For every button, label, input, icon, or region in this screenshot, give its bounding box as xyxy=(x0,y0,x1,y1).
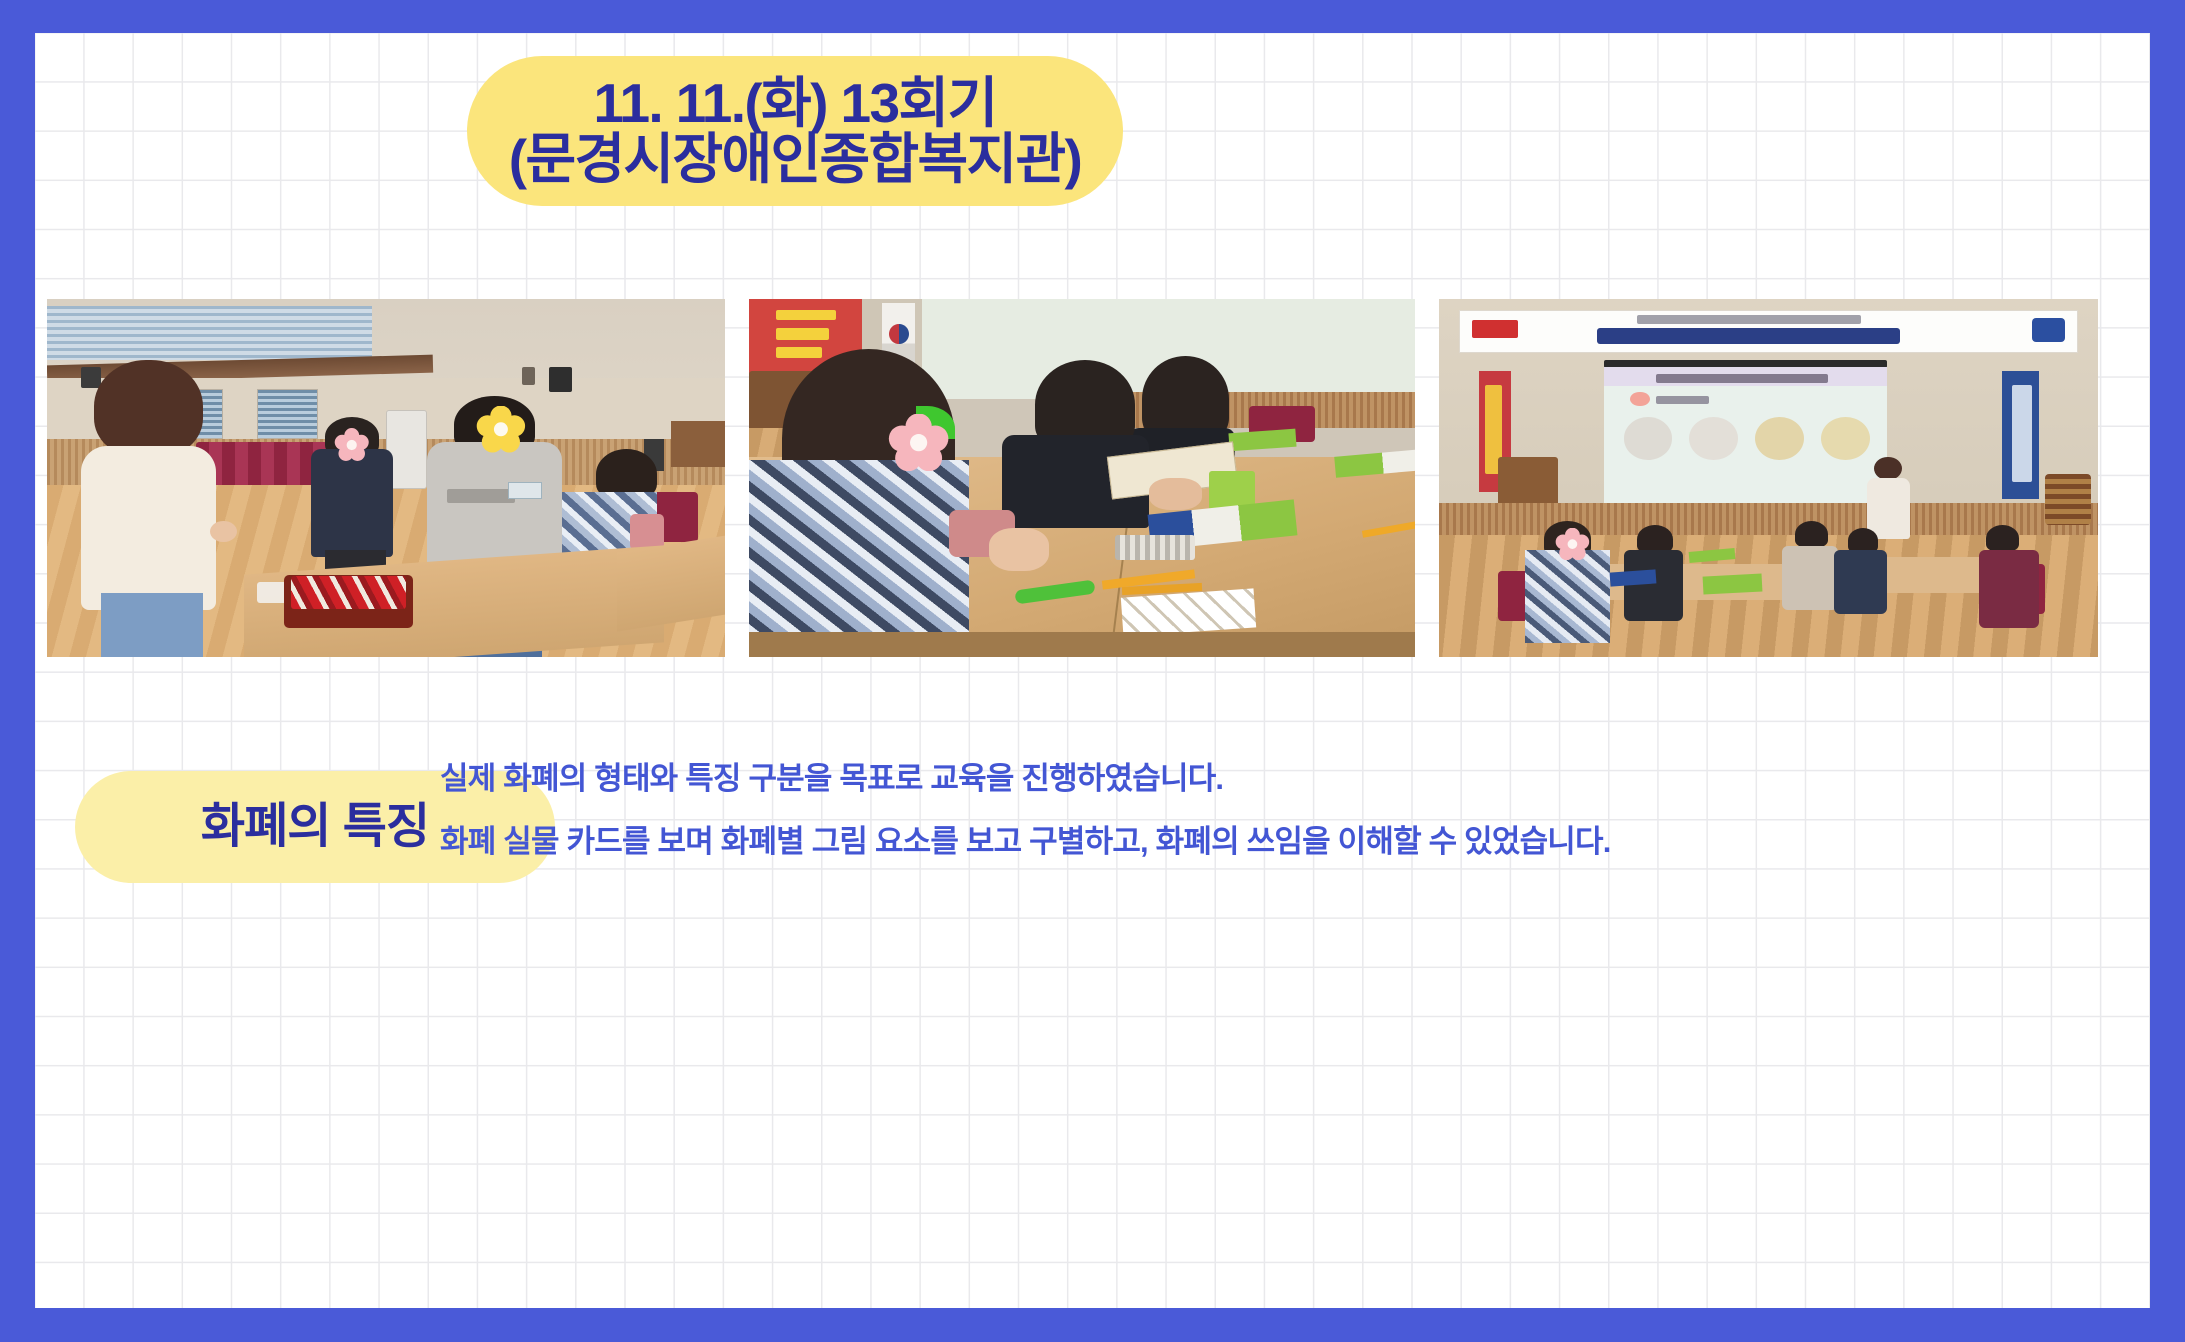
slide-coin-image xyxy=(1624,417,1673,460)
person-jacket xyxy=(81,446,217,611)
slide-coin-image xyxy=(1689,417,1738,460)
person-hair xyxy=(1637,525,1673,554)
wall-bracket xyxy=(522,367,536,385)
worksheet-card xyxy=(1702,573,1762,594)
person-sweatshirt xyxy=(427,442,563,571)
person-hair xyxy=(94,360,202,457)
person-top xyxy=(1979,550,2038,629)
worksheet-card xyxy=(1228,429,1296,451)
person-top xyxy=(1834,550,1887,614)
description-line-1: 실제 화폐의 형태와 특징 구분을 목표로 교육을 진행하였습니다. xyxy=(440,763,2080,794)
instructor-body xyxy=(1867,478,1910,539)
description-line-2: 화폐 실물 카드를 보며 화폐별 그림 요소를 보고 구별하고, 화폐의 쓰임을… xyxy=(440,826,2080,857)
pink-flower-face-cover-icon xyxy=(882,414,955,471)
korean-flag-taegeuk xyxy=(889,324,909,344)
wall-speaker-left xyxy=(81,367,101,388)
photo-1 xyxy=(47,299,725,657)
pink-flower-face-cover-icon xyxy=(1551,528,1594,560)
photo-2 xyxy=(749,299,1415,657)
slide-coin-image xyxy=(1755,417,1804,460)
slide-label-text xyxy=(1656,396,1709,404)
description-block: 실제 화폐의 형태와 특징 구분을 목표로 교육을 진행하였습니다. 화폐 실물… xyxy=(440,763,2080,857)
program-report-card: 11. 11.(화) 13회기 (문경시장애인종합복지관) xyxy=(0,0,2185,1342)
photo-3 xyxy=(1439,299,2098,657)
title-pill: 11. 11.(화) 13회기 (문경시장애인종합복지관) xyxy=(467,56,1123,206)
photo-gallery xyxy=(47,299,2123,657)
snack-items xyxy=(291,576,406,608)
traditional-drums xyxy=(2045,474,2091,524)
person-hand xyxy=(989,528,1049,571)
wooden-podium xyxy=(671,421,725,468)
sweatshirt-print xyxy=(447,489,515,503)
banner-subtitle-text xyxy=(1637,315,1861,324)
person-hand xyxy=(210,521,237,542)
banner-text-block xyxy=(2012,385,2032,482)
person-jeans xyxy=(101,593,203,657)
pink-flower-face-cover-icon xyxy=(328,428,375,462)
grid-paper-page: 11. 11.(화) 13회기 (문경시장애인종합복지관) xyxy=(35,33,2150,1308)
mg-mungyeong-logo xyxy=(1472,320,1518,338)
person-hair xyxy=(1795,521,1828,547)
coin-sticker-sheet xyxy=(1115,535,1195,560)
title-line-2: (문경시장애인종합복지관) xyxy=(509,132,1081,187)
plaid-blanket xyxy=(749,460,969,657)
clerestory-windows xyxy=(47,306,372,360)
title-line-1: 11. 11.(화) 13회기 xyxy=(593,76,996,131)
person-vest xyxy=(311,449,392,556)
slide-title-text xyxy=(1656,374,1827,383)
banner-text-block xyxy=(776,310,836,321)
person-sleeve xyxy=(630,514,664,550)
banner-text-block xyxy=(776,328,829,340)
person-top xyxy=(1624,550,1683,622)
person-hand xyxy=(1149,478,1202,510)
side-window-right xyxy=(257,389,318,439)
slide-coin-image xyxy=(1821,417,1870,460)
person-top xyxy=(1782,546,1838,610)
topic-badge-label: 화폐의 특징 xyxy=(201,803,429,851)
table-edge xyxy=(749,632,1415,657)
wall-speaker-right xyxy=(549,367,572,392)
center-logo-icon xyxy=(2032,318,2065,342)
plaid-blanket xyxy=(1525,550,1611,643)
banner-title-text xyxy=(1597,328,1900,344)
person-hair xyxy=(1986,525,2019,551)
banner-text-block xyxy=(776,347,823,358)
money-card xyxy=(508,482,542,500)
yellow-flower-face-cover-icon xyxy=(467,406,535,453)
instructor-head xyxy=(1874,457,1902,481)
